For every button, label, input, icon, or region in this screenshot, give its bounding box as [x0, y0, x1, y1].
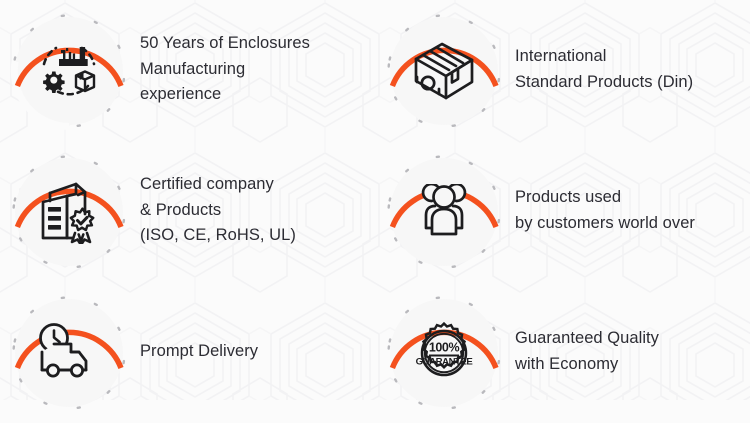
- icon-badge: [385, 12, 503, 130]
- feature-item-prompt-delivery[interactable]: Prompt Delivery: [0, 282, 375, 423]
- seal-word-text: GUARANTEE: [416, 356, 474, 367]
- icon-badge: [385, 153, 503, 271]
- feature-item-international-standard[interactable]: International Standard Products (Din): [375, 0, 750, 141]
- group-of-people-icon: [385, 153, 503, 271]
- feature-item-guaranteed-quality[interactable]: 100% GUARANTEE Guaranteed Quality with E…: [375, 282, 750, 423]
- features-grid: 50 Years of Enclosures Manufacturing exp…: [0, 0, 750, 400]
- icon-badge: [10, 153, 128, 271]
- standard-package-box-icon: [385, 12, 503, 130]
- seal-percent-text: 100%: [429, 340, 460, 354]
- feature-label: Certified company & Products (ISO, CE, R…: [128, 172, 296, 251]
- feature-label: Guaranteed Quality with Economy: [503, 326, 659, 379]
- factory-gear-box-icon: [10, 12, 128, 130]
- icon-badge: 100% GUARANTEE: [385, 294, 503, 412]
- feature-item-50-years[interactable]: 50 Years of Enclosures Manufacturing exp…: [0, 0, 375, 141]
- delivery-truck-clock-icon: [10, 294, 128, 412]
- certified-building-rosette-icon: [10, 153, 128, 271]
- hundred-percent-guarantee-seal-icon: 100% GUARANTEE: [385, 294, 503, 412]
- feature-item-products-used[interactable]: Products used by customers world over: [375, 141, 750, 282]
- feature-label: Prompt Delivery: [128, 339, 258, 367]
- feature-label: Products used by customers world over: [503, 185, 695, 238]
- icon-badge: [10, 12, 128, 130]
- feature-item-certified-company[interactable]: Certified company & Products (ISO, CE, R…: [0, 141, 375, 282]
- icon-badge: [10, 294, 128, 412]
- feature-label: 50 Years of Enclosures Manufacturing exp…: [128, 31, 310, 110]
- feature-label: International Standard Products (Din): [503, 44, 693, 97]
